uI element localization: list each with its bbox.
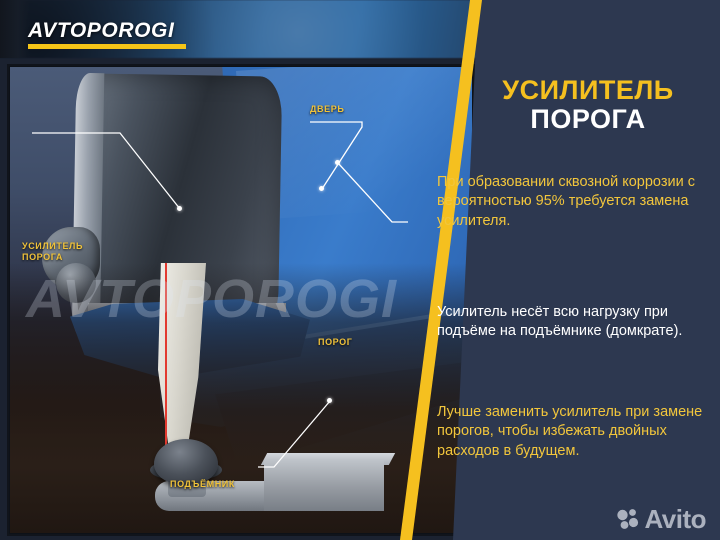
leader-dot-reinforcement [177,206,182,211]
page-title: УСИЛИТЕЛЬ ПОРОГА [468,76,708,133]
leader-dot-sill [335,160,340,165]
paragraph-advice: Лучше заменить усилитель при замене поро… [437,403,709,461]
brand-logo-underline [28,44,186,49]
label-reinforcement: УСИЛИТЕЛЬ ПОРОГА [22,241,83,264]
header-vignette [0,0,30,58]
title-line-1: УСИЛИТЕЛЬ [468,76,708,105]
brand-logo: AVTOPOROGI [28,20,186,49]
diagram-frame [9,66,473,534]
label-sill: ПОРОГ [318,337,352,348]
label-jack: ПОДЪЁМНИК [170,479,235,490]
leader-lines [10,67,472,533]
brand-logo-text: AVTOPOROGI [28,20,186,41]
avito-watermark: Avito [615,506,706,532]
diagram-pane: AVTOPOROGI [0,0,480,540]
leader-dot-jack [327,398,332,403]
avito-logo-text: Avito [644,506,706,532]
leader-dot-door [319,186,324,191]
listing-image: AVTOPOROGI [0,0,720,540]
avito-logo-icon [615,506,641,532]
paragraph-load: Усилитель несёт всю нагрузку при подъёме… [437,303,709,342]
paragraph-corrosion: При образовании сквозной коррозии с веро… [437,173,709,231]
label-door: ДВЕРЬ [310,104,344,115]
title-line-2: ПОРОГА [468,105,708,134]
